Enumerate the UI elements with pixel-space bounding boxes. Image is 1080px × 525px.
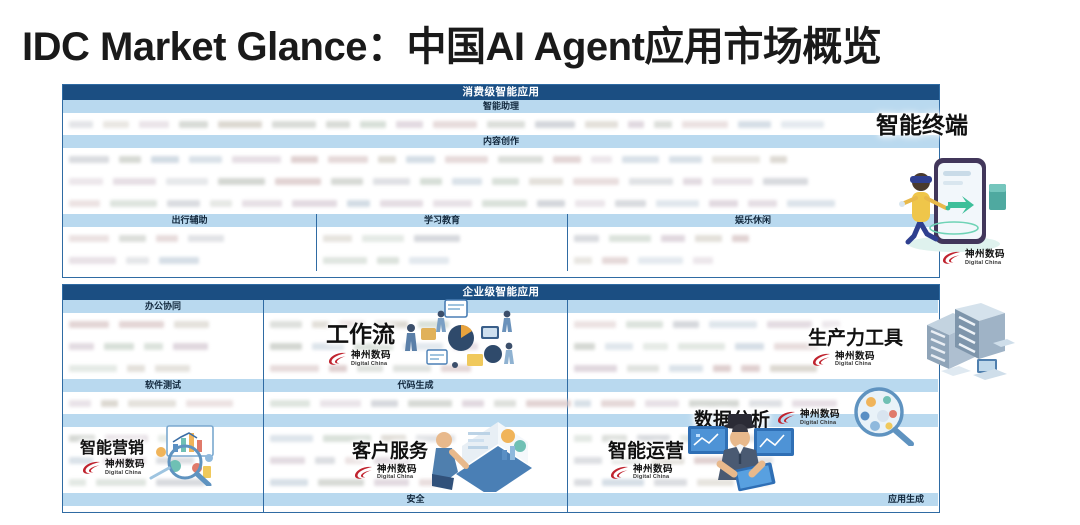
vendor-logo [69,343,94,350]
vendor-logo [126,257,149,264]
vendor-logo [69,365,117,372]
logo-row [63,357,263,379]
vendor-logo [602,479,644,486]
logo-row [63,449,263,471]
vendor-logo [741,365,760,372]
consumer-col-entertainment: 娱乐休闲 [567,214,938,271]
vendor-logo [629,178,673,185]
vendor-logo [738,121,771,128]
vendor-logo [159,257,199,264]
vendor-logo [218,121,262,128]
vendor-logo [270,321,302,328]
vendor-logo [822,321,840,328]
brand-cn: 神州数码 [965,250,1005,260]
enterprise-col-right: 应用生成 [567,300,938,513]
vendor-logo [158,435,179,442]
vendor-logo [669,365,703,372]
vendor-logo [347,200,370,207]
vendor-logo [787,200,835,207]
vendor-logo [433,121,477,128]
logo-row [264,471,567,493]
vendor-logo [574,400,591,407]
vendor-logo [535,121,575,128]
vendor-logo [574,457,602,464]
vendor-logo [709,200,738,207]
vendor-logo [418,321,449,328]
vendor-logo [128,400,176,407]
vendor-logo [292,200,337,207]
vendor-logo [627,365,659,372]
vendor-logo [357,365,383,372]
logo-row [317,227,567,249]
vendor-logo [312,343,344,350]
band-right-blank-3 [568,414,938,427]
vendor-logo [622,156,659,163]
enterprise-grid: 办公协同 软件测试 代码生成 安全 [63,300,939,513]
vendor-logo [189,156,222,163]
vendor-logo [270,435,313,442]
vendor-logo [315,457,335,464]
vendor-logo [529,178,563,185]
vendor-logo [419,479,452,486]
vendor-logo [494,400,516,407]
vendor-logo [69,121,93,128]
vendor-logo [792,400,837,407]
vendor-logo [602,257,628,264]
logo-row [63,148,939,170]
digital-china-wordmark: 神州数码 Digital China [965,250,1005,266]
vendor-logo [69,479,86,486]
vendor-logo [637,435,670,442]
vendor-logo [575,200,605,207]
logo-row [63,427,263,449]
logo-row [568,427,938,449]
vendor-logo [291,156,318,163]
band-travel-assist: 出行辅助 [63,214,316,227]
vendor-logo [242,200,282,207]
logo-row [568,357,938,379]
logo-row [63,227,316,249]
vendor-logo [377,257,399,264]
logo-row [264,427,567,449]
vendor-logo [110,200,157,207]
vendor-logo [270,457,305,464]
vendor-logo [574,343,595,350]
band-right-blank-2 [568,379,938,392]
band-learning-education: 学习教育 [317,214,567,227]
consumer-section-panel: 消费级智能应用 智能助理 内容创作 出行辅助 学习教育 娱乐休闲 [62,84,940,278]
vendor-logo [151,156,179,163]
vendor-logo [381,435,406,442]
vendor-logo [735,343,764,350]
vendor-logo [103,457,146,464]
enterprise-col-left: 办公协同 软件测试 [63,300,263,513]
vendor-logo [69,200,100,207]
vendor-logo [678,343,725,350]
vendor-logo [689,400,739,407]
page-title: IDC Market Glance：中国AI Agent应用市场概览 [22,14,881,72]
vendor-logo [573,178,619,185]
vendor-logo [441,365,471,372]
vendor-logo [328,156,368,163]
vendor-logo [374,479,409,486]
vendor-logo [628,121,644,128]
vendor-logo [651,457,684,464]
logo-row [264,392,567,414]
vendor-logo [774,343,818,350]
vendor-logo [738,457,773,464]
vendor-logo [339,321,365,328]
logo-row [568,249,938,271]
enterprise-col-middle: 代码生成 安全 [263,300,567,513]
vendor-logo [609,235,651,242]
vendor-logo [654,479,687,486]
logo-row [264,357,567,379]
vendor-logo [232,156,281,163]
vendor-logo [574,435,592,442]
logo-row [63,192,939,214]
consumer-category-bar-row: 出行辅助 学习教育 娱乐休闲 [63,214,939,271]
vendor-logo [767,321,812,328]
vendor-logo [712,178,753,185]
vendor-logo [155,365,190,372]
consumer-section-header: 消费级智能应用 [63,85,939,100]
vendor-logo [103,121,129,128]
vendor-logo [574,235,599,242]
consumer-col-travel: 出行辅助 [63,214,316,271]
vendor-logo [270,479,308,486]
vendor-logo [770,365,817,372]
vendor-logo [462,400,484,407]
vendor-logo [113,178,156,185]
vendor-logo [602,435,627,442]
vendor-logo [166,178,208,185]
vendor-logo [156,235,178,242]
vendor-logo [119,321,164,328]
vendor-logo [396,121,423,128]
vendor-logo [601,400,635,407]
vendor-logo [656,200,699,207]
vendor-logo [329,365,347,372]
vendor-logo [167,200,200,207]
vendor-logo [770,156,787,163]
logo-row [63,249,316,271]
vendor-logo [380,200,423,207]
vendor-logo [574,257,592,264]
vendor-logo [695,235,722,242]
vendor-logo [693,257,713,264]
vendor-logo [354,343,393,350]
logo-row [63,335,263,357]
vendor-logo [318,479,364,486]
vendor-logo [730,435,775,442]
logo-row [264,449,567,471]
vendor-logo [638,257,683,264]
vendor-logo [591,156,612,163]
vendor-logo [615,200,646,207]
vendor-logo [360,121,386,128]
vendor-logo [661,235,685,242]
vendor-logo [373,178,410,185]
vendor-logo [69,156,109,163]
vendor-logo [682,121,728,128]
vendor-logo [416,435,455,442]
vendor-logo [374,457,410,464]
logo-row [568,227,938,249]
vendor-logo [498,156,543,163]
vendor-logo [669,156,702,163]
vendor-logo [654,121,672,128]
vendor-logo [275,178,321,185]
vendor-logo [119,156,141,163]
band-middle-blank-2 [264,414,567,427]
vendor-logo [453,343,478,350]
vendor-logo [408,400,452,407]
band-left-blank [63,414,263,427]
logo-row [568,471,938,493]
logo-row [568,313,938,335]
vendor-logo [272,121,316,128]
logo-row [63,170,939,192]
vendor-logo [179,121,208,128]
vendor-logo [712,156,760,163]
consumer-col-education: 学习教育 [316,214,567,271]
vendor-logo [69,400,91,407]
vendor-logo [101,400,118,407]
vendor-logo [403,343,443,350]
logo-row [63,392,263,414]
vendor-logo [312,321,329,328]
vendor-logo [420,178,442,185]
vendor-logo [537,200,565,207]
vendor-logo [626,321,663,328]
vendor-logo [127,365,145,372]
band-left-blank-2 [63,493,263,506]
vendor-logo [104,343,134,350]
vendor-logo [69,457,93,464]
vendor-logo [643,343,668,350]
vendor-logo [156,457,194,464]
band-content-creation: 内容创作 [63,135,939,148]
vendor-logo [680,435,720,442]
band-office-collaboration: 办公协同 [63,300,263,313]
vendor-logo [574,321,616,328]
band-entertainment: 娱乐休闲 [568,214,938,227]
vendor-logo [323,435,371,442]
vendor-logo [393,365,431,372]
vendor-logo [574,365,617,372]
vendor-logo [326,121,350,128]
vendor-logo [174,321,209,328]
band-right-blank [568,300,938,313]
vendor-logo [320,400,361,407]
band-software-testing: 软件测试 [63,379,263,392]
logo-row [568,392,938,414]
vendor-logo [69,235,109,242]
vendor-logo [414,235,460,242]
band-middle-blank [264,300,567,313]
vendor-logo [732,235,749,242]
vendor-logo [553,156,581,163]
vendor-logo [605,343,633,350]
vendor-logo [371,400,398,407]
vendor-logo [69,435,95,442]
vendor-logo [119,235,146,242]
vendor-logo [781,121,824,128]
logo-row [63,313,263,335]
vendor-logo [323,257,367,264]
logo-row [568,506,938,513]
logo-row [317,249,567,271]
vendor-logo [378,156,396,163]
vendor-logo [645,400,679,407]
vendor-logo [345,457,364,464]
vendor-logo [585,121,618,128]
vendor-logo [323,235,352,242]
vendor-logo [156,479,205,486]
band-smart-assistant: 智能助理 [63,100,939,113]
vendor-logo [406,156,435,163]
vendor-logo [144,343,163,350]
vendor-logo [105,435,148,442]
vendor-logo [694,457,728,464]
logo-row [63,506,263,513]
vendor-logo [683,178,702,185]
vendor-logo [526,400,571,407]
vendor-logo [433,200,472,207]
vendor-logo [210,200,232,207]
vendor-logo [96,479,146,486]
vendor-logo [574,479,592,486]
vendor-logo [409,257,449,264]
vendor-logo [744,479,770,486]
vendor-logo [612,457,641,464]
logo-row [63,113,939,135]
vendor-logo [69,257,116,264]
logo-row [568,449,938,471]
digital-china-logo: 神州数码 Digital China [942,250,1005,266]
vendor-logo [445,156,488,163]
vendor-logo [713,365,731,372]
logo-row [264,313,567,335]
vendor-logo [331,178,363,185]
vendor-logo [362,235,404,242]
logo-row [264,506,567,513]
vendor-logo [697,479,734,486]
logo-row [264,335,567,357]
brand-en: Digital China [965,261,1005,267]
vendor-logo [673,321,699,328]
vendor-logo [139,121,169,128]
vendor-logo [487,121,525,128]
vendor-logo [763,178,808,185]
band-code-generation: 代码生成 [264,379,567,392]
logo-row [63,471,263,493]
vendor-logo [218,178,265,185]
digital-china-mark-icon [942,251,962,265]
vendor-logo [69,321,109,328]
vendor-logo [375,321,408,328]
enterprise-section-header: 企业级智能应用 [63,285,939,300]
vendor-logo [749,400,782,407]
vendor-logo [492,178,519,185]
logo-row [568,335,938,357]
vendor-logo [482,200,527,207]
vendor-logo [186,400,233,407]
band-app-generation: 应用生成 [568,493,938,506]
vendor-logo [748,200,777,207]
enterprise-section-panel: 企业级智能应用 办公协同 软件测试 代码生成 [62,284,940,513]
vendor-logo [69,178,103,185]
vendor-logo [188,235,224,242]
vendor-logo [270,365,319,372]
band-security: 安全 [264,493,567,506]
vendor-logo [709,321,757,328]
vendor-logo [173,343,208,350]
vendor-logo [270,400,310,407]
vendor-logo [452,178,482,185]
vendor-logo [270,343,302,350]
